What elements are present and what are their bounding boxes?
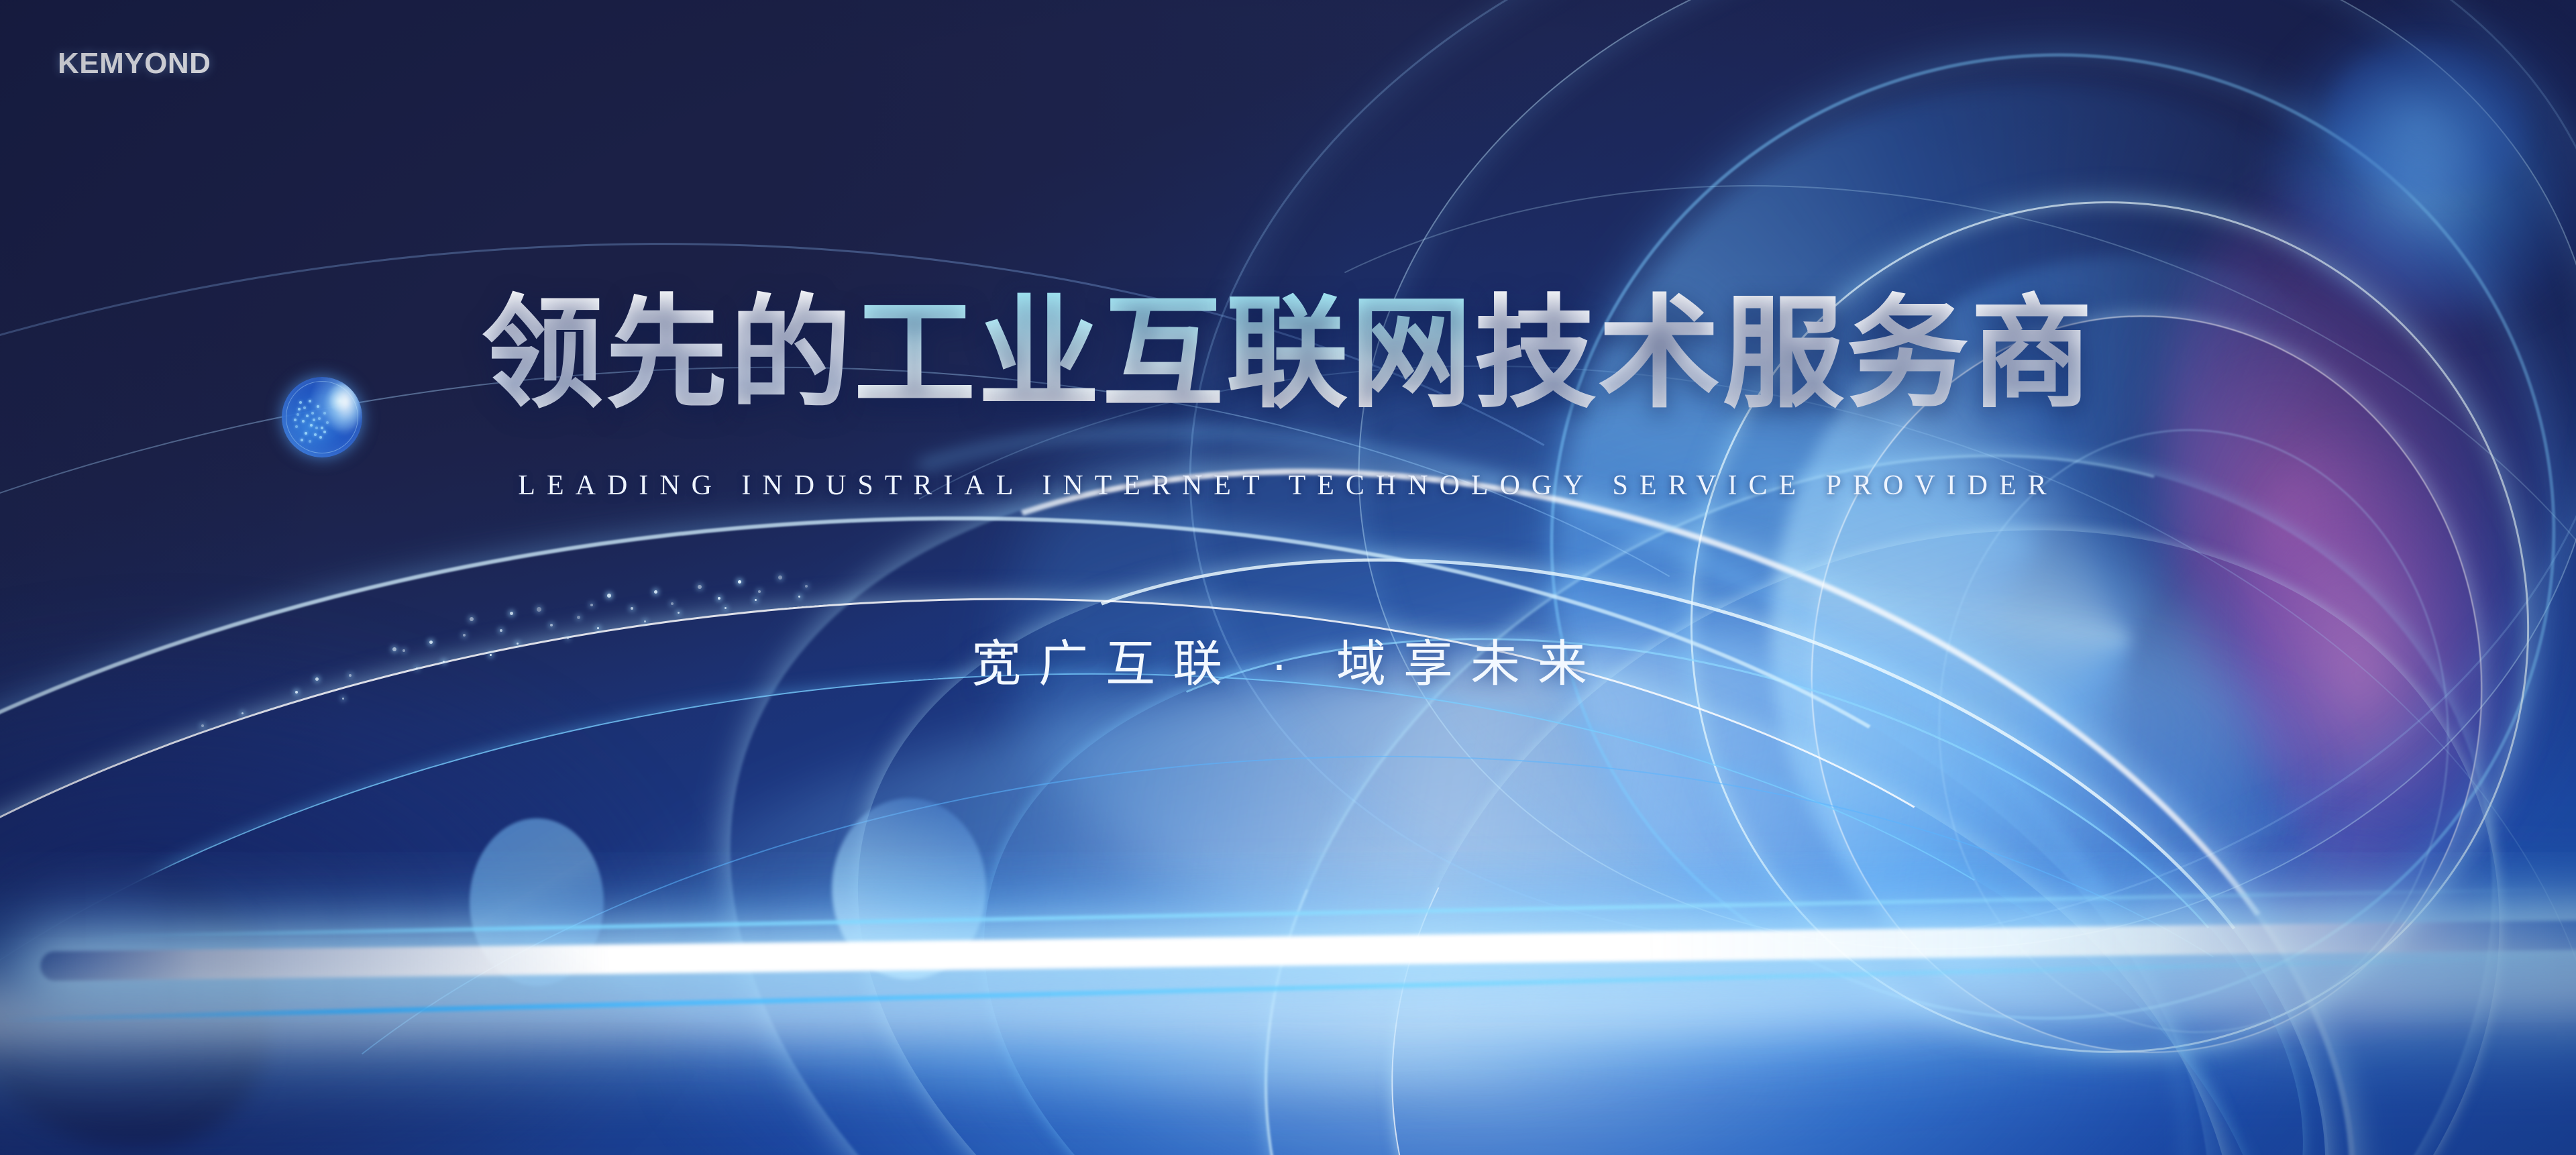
globe-particle-dot bbox=[301, 439, 303, 441]
globe-particle-dot bbox=[302, 420, 305, 423]
brand-logo: KEMYOND bbox=[58, 47, 211, 80]
particle-dot bbox=[698, 585, 702, 589]
particle-dot bbox=[798, 596, 800, 598]
particle-dot bbox=[718, 597, 720, 600]
globe-particle-dot bbox=[321, 427, 323, 429]
particle-dot bbox=[607, 594, 611, 598]
globe-particle-dot bbox=[295, 425, 298, 428]
particle-dot bbox=[778, 575, 782, 580]
particle-dot bbox=[342, 698, 344, 700]
particle-dot bbox=[470, 617, 474, 621]
page-tagline: 宽广互联 · 域享未来 bbox=[0, 624, 2576, 696]
particle-dot bbox=[805, 585, 808, 588]
globe-particle-dot bbox=[310, 424, 313, 427]
headline-part-white: 领先的 bbox=[482, 285, 854, 422]
particle-dot bbox=[510, 612, 513, 615]
particle-dot bbox=[758, 590, 761, 593]
particle-dot bbox=[671, 602, 674, 605]
globe-particle-dot bbox=[326, 421, 329, 424]
particle-dot bbox=[577, 616, 580, 619]
particle-dot bbox=[241, 712, 244, 714]
page-title: 领先的工业互联网技术服务商 bbox=[0, 292, 2576, 415]
particle-dot bbox=[590, 604, 593, 606]
globe-particle-dot bbox=[305, 432, 307, 435]
headline-part-cyan: 工业互联网 bbox=[854, 285, 1474, 422]
particle-dot bbox=[537, 607, 541, 612]
globe-particle-dot bbox=[313, 419, 315, 421]
page-subtitle: LEADING INDUSTRIAL INTERNET TECHNOLOGY S… bbox=[0, 470, 2576, 502]
globe-particle-dot bbox=[309, 440, 311, 443]
particle-dot bbox=[724, 607, 727, 609]
globe-particle-dot bbox=[294, 419, 297, 421]
orb-top-right bbox=[2328, 40, 2529, 195]
particle-dot bbox=[201, 724, 204, 727]
globe-particle-dot bbox=[323, 431, 326, 433]
particle-dot bbox=[654, 590, 657, 594]
particle-dot bbox=[678, 612, 680, 614]
globe-particle-dot bbox=[315, 427, 318, 429]
particle-dot bbox=[644, 620, 646, 622]
globe-particle-dot bbox=[318, 417, 321, 420]
particle-dot bbox=[631, 607, 633, 610]
globe-particle-dot bbox=[314, 433, 317, 436]
headline-part-white-tail: 技术服务商 bbox=[1474, 285, 2095, 422]
hero-banner: KEMYOND 领先的工业互联网技术服务商 LEADING INDUSTRIAL… bbox=[0, 0, 2576, 1155]
globe-particle-dot bbox=[306, 415, 309, 417]
particle-dot bbox=[738, 580, 741, 584]
particle-dot bbox=[755, 599, 757, 601]
globe-particle-dot bbox=[319, 436, 322, 439]
